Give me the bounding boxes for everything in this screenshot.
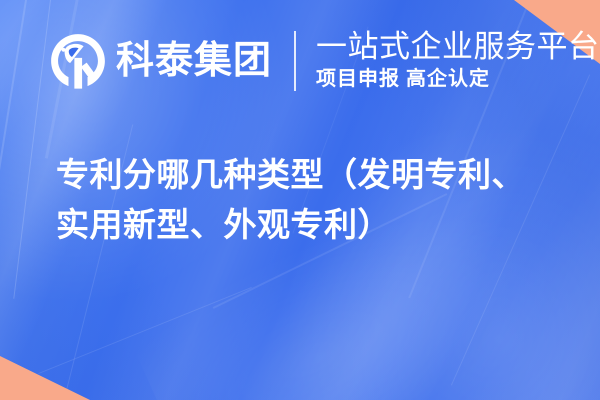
brand-name: 科泰集团 [116,42,272,80]
header-divider [294,31,296,91]
article-title-line-1: 专利分哪几种类型（发明专利、 [56,150,556,200]
article-title: 专利分哪几种类型（发明专利、 实用新型、外观专利） [56,150,556,250]
brand-header: 科泰集团 一站式企业服务平台 项目申报 高企认定 [0,0,600,122]
tagline-block: 一站式企业服务平台 项目申报 高企认定 [316,30,600,92]
logo-lockup: 科泰集团 [50,33,272,89]
tagline-primary: 一站式企业服务平台 [316,30,600,65]
article-cover-banner: 科泰集团 一站式企业服务平台 项目申报 高企认定 专利分哪几种类型（发明专利、 … [0,0,600,400]
article-title-line-2: 实用新型、外观专利） [56,200,556,250]
ketai-circular-logo-icon [50,33,106,89]
tagline-secondary: 项目申报 高企认定 [316,67,600,92]
